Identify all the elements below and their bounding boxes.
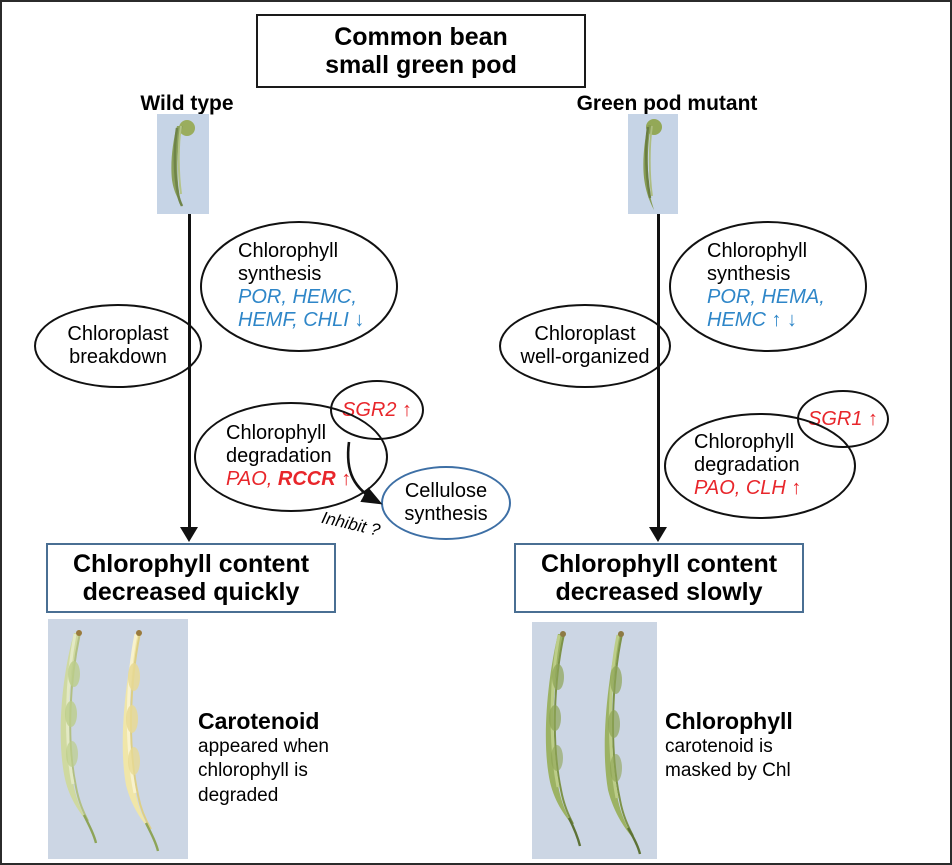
caption-line2: masked by Chl <box>665 759 865 783</box>
degradation-genes-plain: PAO, <box>226 468 278 490</box>
result-box-wild-type: Chlorophyll content decreased quickly <box>46 543 336 613</box>
degradation-line1: Chlorophyll <box>226 422 386 445</box>
arrow-up-icon: ↑ <box>336 468 352 490</box>
pod-photo-mutant-mature <box>532 622 657 859</box>
synthesis-genes-line2-text: HEMF, CHLI <box>238 309 349 331</box>
figure-root: Common bean small green pod Wild type Ch… <box>0 0 952 865</box>
caption-line3: degraded <box>198 784 388 808</box>
result-line2: decreased slowly <box>555 578 762 607</box>
arrow-down-icon: ↓ <box>354 309 364 331</box>
figure-title-line2: small green pod <box>325 51 517 79</box>
degradation-line1: Chlorophyll <box>694 431 854 454</box>
bean-pod-icon <box>628 114 678 214</box>
chloroplast-line1: Chloroplast <box>67 323 168 346</box>
figure-title-box: Common bean small green pod <box>256 14 586 88</box>
result-line1: Chlorophyll content <box>73 550 309 579</box>
chloroplast-line2: well-organized <box>521 346 650 369</box>
cellulose-line2: synthesis <box>404 503 487 526</box>
pod-photo-wild-type-small <box>157 114 209 214</box>
caption-title: Carotenoid <box>198 708 388 735</box>
degradation-line2: degradation <box>226 445 386 468</box>
ellipse-chlorophyll-degradation-mutant: Chlorophyll degradation PAO, CLH ↑ <box>664 413 856 519</box>
synthesis-line2: synthesis <box>707 263 865 286</box>
column-heading-wild-type: Wild type <box>102 92 272 116</box>
degradation-genes: PAO, CLH ↑ <box>694 477 854 501</box>
cellulose-line1: Cellulose <box>405 480 487 503</box>
degradation-line2: degradation <box>694 454 854 477</box>
bean-pod-icon <box>532 622 657 859</box>
caption-title: Chlorophyll <box>665 708 865 735</box>
caption-wild-type: Carotenoid appeared when chlorophyll is … <box>198 708 388 808</box>
ellipse-cellulose-synthesis: Cellulose synthesis <box>381 466 511 540</box>
result-line2: decreased quickly <box>83 578 300 607</box>
synthesis-line1: Chlorophyll <box>707 240 865 263</box>
caption-line2: chlorophyll is <box>198 759 388 783</box>
ellipse-chloroplast-mutant: Chloroplast well-organized <box>499 304 671 388</box>
arrow-up-down-icon: ↑ ↓ <box>771 309 797 331</box>
degradation-genes: PAO, RCCR ↑ <box>226 468 386 492</box>
bean-pod-icon <box>48 619 188 859</box>
caption-line1: carotenoid is <box>665 735 865 759</box>
arrow-up-icon: ↑ <box>786 477 802 499</box>
result-line1: Chlorophyll content <box>541 550 777 579</box>
ellipse-chlorophyll-degradation-wild-type: Chlorophyll degradation PAO, RCCR ↑ <box>194 402 388 512</box>
ellipse-chloroplast-wild-type: Chloroplast breakdown <box>34 304 202 388</box>
caption-mutant: Chlorophyll carotenoid is masked by Chl <box>665 708 865 784</box>
synthesis-genes-line2-text: HEMC <box>707 309 766 331</box>
arrow-up-icon: ↑ <box>868 408 878 431</box>
degradation-genes-bold: RCCR <box>278 468 336 490</box>
chloroplast-line1: Chloroplast <box>534 323 635 346</box>
result-box-mutant: Chlorophyll content decreased slowly <box>514 543 804 613</box>
ellipse-chlorophyll-synthesis-mutant: Chlorophyll synthesis POR, HEMA, HEMC ↑ … <box>669 221 867 352</box>
ellipse-chlorophyll-synthesis-wild-type: Chlorophyll synthesis POR, HEMC, HEMF, C… <box>200 221 398 352</box>
synthesis-line2: synthesis <box>238 263 396 286</box>
column-heading-green-pod-mutant: Green pod mutant <box>547 92 787 116</box>
pod-photo-mutant-small <box>628 114 678 214</box>
caption-line1: appeared when <box>198 735 388 759</box>
flow-arrow-line-mutant <box>657 214 660 531</box>
bean-pod-icon <box>157 114 209 214</box>
arrow-up-icon: ↑ <box>402 399 412 422</box>
flow-arrow-head-wild-type <box>180 527 198 542</box>
flow-arrow-line-wild-type <box>188 214 191 531</box>
figure-title-line1: Common bean <box>334 23 508 51</box>
chloroplast-line2: breakdown <box>69 346 167 369</box>
degradation-genes-plain: PAO, CLH <box>694 477 786 499</box>
synthesis-genes-line1: POR, HEMA, <box>707 286 865 310</box>
synthesis-genes-line1: POR, HEMC, <box>238 286 396 310</box>
flow-arrow-head-mutant <box>649 527 667 542</box>
pod-photo-wild-type-mature <box>48 619 188 859</box>
inhibit-label: Inhibit ? <box>320 508 383 541</box>
synthesis-genes-line2: HEMF, CHLI ↓ <box>238 309 396 333</box>
synthesis-genes-line2: HEMC ↑ ↓ <box>707 309 865 333</box>
synthesis-line1: Chlorophyll <box>238 240 396 263</box>
